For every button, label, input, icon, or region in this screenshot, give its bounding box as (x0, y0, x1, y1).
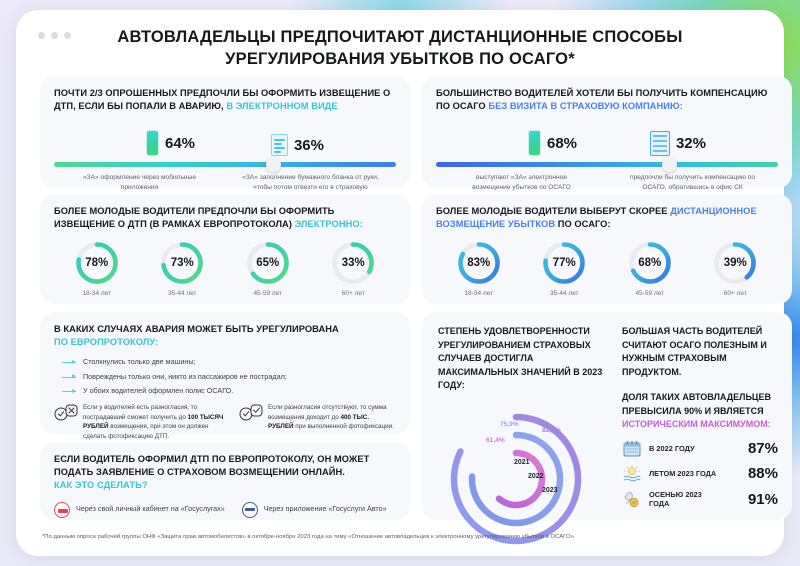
ratio-slider-eform[interactable] (54, 162, 396, 167)
heading-plain-1: БОЛЕЕ МОЛОДЫЕ ВОДИТЕЛИ ВЫБЕРУТ СКОРЕЕ (436, 206, 668, 216)
heading-plain: ЕСЛИ ВОДИТЕЛЬ ОФОРМИЛ ДТП ПО ЕВРОПРОТОКО… (54, 454, 369, 477)
arrow-icon (62, 377, 76, 378)
spiral-year-2022: 2022 (528, 473, 544, 480)
card-electronic-form: ПОЧТИ 2/3 ОПРОШЕННЫХ ПРЕДПОЧЛИ БЫ ОФОРМИ… (40, 76, 410, 188)
captions-row: «ЗА» оформление через мобильные приложен… (54, 173, 396, 192)
left-percent: 68% (547, 135, 577, 152)
donut-ring: 78% (74, 240, 120, 286)
satisfaction-columns: СТЕПЕНЬ УДОВЛЕТВОРЕННОСТИ УРЕГУЛИРОВАНИЕ… (438, 325, 778, 547)
stat-label: ЛЕТОМ 2023 ГОДА (649, 469, 721, 479)
autumn-leaves-icon (622, 490, 642, 508)
donut-age-label: 35-44 лет (140, 290, 226, 297)
donut-ring: 83% (456, 240, 502, 286)
para2-plain: ДОЛЯ ТАКИХ АВТОВЛАДЕЛЬЦЕВ ПРЕВЫСИЛА 90% … (622, 392, 771, 416)
check-x-icon (54, 404, 78, 421)
note-pre: Если у водителей есть разногласия, то по… (83, 404, 197, 421)
card-electronic-form-heading: ПОЧТИ 2/3 ОПРОШЕННЫХ ПРЕДПОЧЛИ БЫ ОФОРМИ… (54, 87, 396, 113)
card-europrotocol: В КАКИХ СЛУЧАЯХ АВАРИЯ МОЖЕТ БЫТЬ УРЕГУЛ… (40, 312, 410, 434)
stat-value: 88% (748, 465, 778, 482)
donut-group-blue: 83%18-34 лет77%35-44 лет68%45-59 лет39%6… (436, 240, 778, 297)
satisfaction-text-column: БОЛЬШАЯ ЧАСТЬ ВОДИТЕЛЕЙ СЧИТАЮТ ОСАГО ПО… (622, 325, 778, 547)
stat-row: ОСЕНЬЮ 2023 ГОДА91% (622, 490, 778, 510)
condition-text: У обоих водителей оформлен полис ОСАГО. (83, 386, 233, 397)
card-compensation-heading: БОЛЬШИНСТВО ВОДИТЕЛЕЙ ХОТЕЛИ БЫ ПОЛУЧИТЬ… (436, 87, 778, 113)
heading-plain-2: ПО ОСАГО: (558, 219, 611, 229)
donut-age-label: 18-34 лет (436, 290, 522, 297)
donut-value: 65% (245, 240, 291, 286)
condition-text: Повреждены только они, никто из пассажир… (83, 372, 287, 383)
paper-document-icon (271, 134, 288, 156)
gosuslugi-auto-label: Через приложение «Госуслуги Авто» (264, 504, 387, 515)
card-young-remote: БОЛЕЕ МОЛОДЫЕ ВОДИТЕЛИ ВЫБЕРУТ СКОРЕЕ ДИ… (422, 194, 792, 304)
captions-row: выступают «ЗА» электронное возмещение уб… (436, 173, 778, 192)
card-europrotocol-heading: В КАКИХ СЛУЧАЯХ АВАРИЯ МОЖЕТ БЫТЬ УРЕГУЛ… (54, 323, 396, 349)
footnote: *По данным опроса рабочей группы ОНФ «За… (42, 534, 782, 540)
donut-ring: 73% (159, 240, 205, 286)
left-value-group: 68% (528, 130, 577, 156)
stat-value: 91% (748, 491, 778, 508)
arrow-icon (62, 362, 76, 363)
gosuslugi-auto-option[interactable]: Через приложение «Госуслуги Авто» (242, 502, 396, 518)
heading-plain: БОЛЕЕ МОЛОДЫЕ ВОДИТЕЛИ ПРЕДПОЧЛИ БЫ ОФОР… (54, 206, 334, 229)
donut-value: 39% (712, 240, 758, 286)
para2-accent: ИСТОРИЧЕСКИМ МАКСИМУМОМ: (622, 419, 771, 429)
gosuslugi-cabinet-label: Через свой личный кабинет на «Госуслугах… (76, 504, 225, 515)
top-cards-row: ПОЧТИ 2/3 ОПРОШЕННЫХ ПРЕДПОЧЛИ БЫ ОФОРМИ… (40, 76, 792, 188)
donut-age-label: 35-44 лет (522, 290, 608, 297)
donut-ring: 39% (712, 240, 758, 286)
slider-knob[interactable] (662, 157, 677, 172)
donut-value: 68% (627, 240, 673, 286)
slider-knob[interactable] (266, 157, 281, 172)
note-agreement: Если разногласия отсутствуют, то сумма в… (239, 403, 394, 442)
summer-sun-icon (622, 465, 642, 483)
donut-ring: 68% (627, 240, 673, 286)
gosuslugi-cabinet-option[interactable]: Через свой личный кабинет на «Госуслугах… (54, 502, 228, 518)
dot-1 (38, 32, 45, 39)
donut-item: 39%60+ лет (693, 240, 779, 297)
donut-value: 77% (541, 240, 587, 286)
left-value-group: 64% (146, 130, 195, 156)
condition-item: Столкнулись только две машины; (54, 357, 396, 368)
stat-row: ЛЕТОМ 2023 ГОДА88% (622, 465, 778, 483)
donut-value: 73% (159, 240, 205, 286)
donut-ring: 33% (330, 240, 376, 286)
value-icons-row: 68% 32% (436, 122, 778, 156)
gosuslugi-auto-logo-icon (242, 502, 258, 518)
stat-label: В 2022 ГОДУ (649, 444, 721, 454)
card-satisfaction: СТЕПЕНЬ УДОВЛЕТВОРЕННОСТИ УРЕГУЛИРОВАНИЕ… (422, 312, 792, 520)
heading-accent: БЕЗ ВИЗИТА В СТРАХОВУЮ КОМПАНИЮ: (488, 101, 682, 111)
spiral-label-2022: 75,9% (500, 421, 519, 428)
note-disagreement: Если у водителей есть разногласия, то по… (54, 403, 229, 442)
spiral-year-2021: 2021 (514, 459, 530, 466)
spiral-label-2023: 82,3% (542, 427, 561, 434)
satisfaction-para1: БОЛЬШАЯ ЧАСТЬ ВОДИТЕЛЕЙ СЧИТАЮТ ОСАГО ПО… (622, 325, 778, 379)
note-agreement-text: Если разногласия отсутствуют, то сумма в… (268, 403, 394, 442)
calendar-icon (622, 440, 642, 458)
heading-accent: КАК ЭТО СДЕЛАТЬ? (54, 480, 148, 490)
card-young-eform: БОЛЕЕ МОЛОДЫЕ ВОДИТЕЛИ ПРЕДПОЧЛИ БЫ ОФОР… (40, 194, 410, 304)
donut-ring: 65% (245, 240, 291, 286)
infographic-card: АВТОВЛАДЕЛЬЦЫ ПРЕДПОЧИТАЮТ ДИСТАНЦИОННЫЕ… (16, 10, 784, 556)
spiral-arc-2022 (472, 435, 560, 523)
stat-value: 87% (748, 440, 778, 457)
dot-3 (64, 32, 71, 39)
gosuslugi-logo-icon (54, 502, 70, 518)
stat-row: В 2022 ГОДУ87% (622, 440, 778, 458)
dot-2 (51, 32, 58, 39)
condition-item: Повреждены только они, никто из пассажир… (54, 372, 396, 383)
office-building-icon (650, 131, 670, 156)
donut-age-label: 45-59 лет (607, 290, 693, 297)
left-caption: «ЗА» оформление через мобильные приложен… (54, 173, 225, 192)
value-icons-row: 64% 36% (54, 122, 396, 156)
right-value-group: 36% (271, 134, 324, 156)
heading-accent: В ЭЛЕКТРОННОМ ВИДЕ (226, 101, 337, 111)
right-value-group: 32% (650, 131, 706, 156)
right-percent: 36% (294, 137, 324, 154)
right-percent: 32% (676, 135, 706, 152)
donut-item: 65%45-59 лет (225, 240, 311, 297)
donut-ring: 77% (541, 240, 587, 286)
donut-age-label: 60+ лет (693, 290, 779, 297)
condition-item: У обоих водителей оформлен полис ОСАГО. (54, 386, 396, 397)
note-post: при выполненной фотофиксации. (294, 423, 394, 430)
donut-item: 33%60+ лет (311, 240, 397, 297)
card-young-eform-heading: БОЛЕЕ МОЛОДЫЕ ВОДИТЕЛИ ПРЕДПОЧЛИ БЫ ОФОР… (54, 205, 396, 231)
window-dots (38, 32, 71, 39)
smartphone-icon (528, 130, 541, 156)
donut-item: 83%18-34 лет (436, 240, 522, 297)
arrow-icon (62, 391, 76, 392)
donut-group-green: 78%18-34 лет73%35-44 лет65%45-59 лет33%6… (54, 240, 396, 297)
donut-age-label: 45-59 лет (225, 290, 311, 297)
donut-age-label: 18-34 лет (54, 290, 140, 297)
left-caption: выступают «ЗА» электронное возмещение уб… (436, 173, 607, 192)
spiral-chart: 75,9% 82,3% 61,4% 2021 2022 2023 (438, 397, 610, 547)
ratio-slider-compensation[interactable] (436, 162, 778, 167)
donut-item: 77%35-44 лет (522, 240, 608, 297)
satisfaction-chart-column: СТЕПЕНЬ УДОВЛЕТВОРЕННОСТИ УРЕГУЛИРОВАНИЕ… (438, 325, 610, 547)
donut-value: 78% (74, 240, 120, 286)
donut-value: 33% (330, 240, 376, 286)
gosuslugi-options: Через свой личный кабинет на «Госуслугах… (54, 502, 396, 518)
satisfaction-para2: ДОЛЯ ТАКИХ АВТОВЛАДЕЛЬЦЕВ ПРЕВЫСИЛА 90% … (622, 391, 778, 432)
smartphone-icon (146, 130, 159, 156)
europrotocol-notes: Если у водителей есть разногласия, то по… (54, 403, 396, 442)
donut-item: 68%45-59 лет (607, 240, 693, 297)
heading-plain: ПОЧТИ 2/3 ОПРОШЕННЫХ ПРЕДПОЧЛИ БЫ ОФОРМИ… (54, 88, 390, 111)
heading-accent: ПО ЕВРОПРОТОКОЛУ: (54, 337, 158, 347)
donut-age-label: 60+ лет (311, 290, 397, 297)
card-compensation: БОЛЬШИНСТВО ВОДИТЕЛЕЙ ХОТЕЛИ БЫ ПОЛУЧИТЬ… (422, 76, 792, 188)
satisfaction-stats: В 2022 ГОДУ87%ЛЕТОМ 2023 ГОДА88%ОСЕНЬЮ 2… (622, 440, 778, 510)
condition-text: Столкнулись только две машины; (83, 357, 196, 368)
left-percent: 64% (165, 135, 195, 152)
heading-plain: В КАКИХ СЛУЧАЯХ АВАРИЯ МОЖЕТ БЫТЬ УРЕГУЛ… (54, 324, 339, 334)
donut-cards-row: БОЛЕЕ МОЛОДЫЕ ВОДИТЕЛИ ПРЕДПОЧЛИ БЫ ОФОР… (40, 194, 792, 304)
right-caption: предпочли бы получить компенсацию по ОСА… (607, 173, 778, 192)
heading-accent: ЭЛЕКТРОННО: (295, 219, 363, 229)
page-title: АВТОВЛАДЕЛЬЦЫ ПРЕДПОЧИТАЮТ ДИСТАНЦИОННЫЕ… (16, 10, 784, 71)
donut-item: 78%18-34 лет (54, 240, 140, 297)
spiral-year-2023: 2023 (542, 487, 558, 494)
spiral-label-2021: 61,4% (486, 437, 505, 444)
right-caption: «ЗА» заполнение бумажного бланка от руки… (225, 173, 396, 192)
card-online-claim-heading: ЕСЛИ ВОДИТЕЛЬ ОФОРМИЛ ДТП ПО ЕВРОПРОТОКО… (54, 453, 396, 493)
donut-item: 73%35-44 лет (140, 240, 226, 297)
card-young-remote-heading: БОЛЕЕ МОЛОДЫЕ ВОДИТЕЛИ ВЫБЕРУТ СКОРЕЕ ДИ… (436, 205, 778, 231)
note-disagreement-text: Если у водителей есть разногласия, то по… (83, 403, 229, 442)
satisfaction-heading: СТЕПЕНЬ УДОВЛЕТВОРЕННОСТИ УРЕГУЛИРОВАНИЕ… (438, 325, 610, 393)
donut-value: 83% (456, 240, 502, 286)
check-check-icon (239, 404, 263, 421)
card-online-claim: ЕСЛИ ВОДИТЕЛЬ ОФОРМИЛ ДТП ПО ЕВРОПРОТОКО… (40, 442, 410, 520)
europrotocol-conditions-list: Столкнулись только две машины;Повреждены… (54, 357, 396, 396)
stat-label: ОСЕНЬЮ 2023 ГОДА (649, 490, 721, 510)
